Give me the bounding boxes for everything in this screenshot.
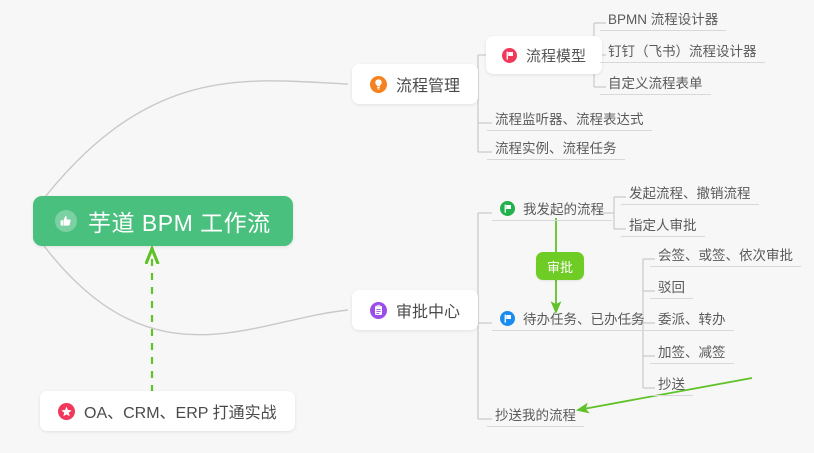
- node-countersign-orsign-sequential[interactable]: 会签、或签、依次审批: [650, 243, 801, 267]
- node-instance-task[interactable]: 流程实例、流程任务: [487, 136, 625, 160]
- node-todo-done-tasks-label: 待办任务、已办任务: [523, 313, 645, 327]
- node-todo-done-tasks[interactable]: 待办任务、已办任务: [492, 307, 653, 331]
- node-process-model[interactable]: 流程模型: [486, 36, 602, 74]
- node-assignee-approval-label: 指定人审批: [629, 219, 697, 233]
- node-delegate-transfer-label: 委派、转办: [658, 313, 726, 327]
- connector-root-to-process-management: [38, 81, 348, 206]
- node-custom-process-form[interactable]: 自定义流程表单: [600, 71, 711, 95]
- node-cc-to-me-process[interactable]: 抄送我的流程: [487, 403, 584, 427]
- node-my-initiated-process[interactable]: 我发起的流程: [492, 197, 612, 221]
- flag-icon: [500, 311, 515, 326]
- node-carbon-copy[interactable]: 抄送: [650, 372, 693, 396]
- node-bpmn-designer-label: BPMN 流程设计器: [608, 13, 718, 27]
- node-dingtalk-feishu-designer-label: 钉钉（飞书）流程设计器: [608, 45, 757, 59]
- node-countersign-orsign-sequential-label: 会签、或签、依次审批: [658, 249, 793, 263]
- tag-approval[interactable]: 审批: [536, 252, 584, 280]
- connector-root-to-approval-center: [38, 238, 348, 335]
- node-start-cancel-process[interactable]: 发起流程、撤销流程: [621, 181, 759, 205]
- branch-process-management-label: 流程管理: [396, 72, 460, 96]
- tag-approval-label: 审批: [547, 257, 573, 276]
- footer-integration-note[interactable]: OA、CRM、ERP 打通实战: [40, 391, 295, 431]
- root-label: 芋道 BPM 工作流: [88, 204, 271, 238]
- node-add-remove-sign[interactable]: 加签、减签: [650, 340, 734, 364]
- flag-icon: [500, 201, 515, 216]
- node-listener-expression-label: 流程监听器、流程表达式: [495, 113, 644, 127]
- node-custom-process-form-label: 自定义流程表单: [608, 77, 703, 91]
- node-my-initiated-process-label: 我发起的流程: [523, 203, 604, 217]
- branch-approval-center-label: 审批中心: [396, 298, 460, 322]
- mindmap-canvas: 芋道 BPM 工作流 流程管理 流程模型 BPMN 流程设计器 钉钉（飞书）流: [0, 0, 814, 453]
- node-add-remove-sign-label: 加签、减签: [658, 346, 726, 360]
- node-reject[interactable]: 驳回: [650, 275, 693, 299]
- node-dingtalk-feishu-designer[interactable]: 钉钉（飞书）流程设计器: [600, 39, 765, 63]
- lightbulb-icon: [370, 76, 387, 93]
- node-instance-task-label: 流程实例、流程任务: [495, 142, 617, 156]
- root-node[interactable]: 芋道 BPM 工作流: [33, 196, 293, 246]
- node-listener-expression[interactable]: 流程监听器、流程表达式: [487, 107, 652, 131]
- node-bpmn-designer[interactable]: BPMN 流程设计器: [600, 7, 726, 31]
- clipboard-icon: [370, 302, 387, 319]
- node-delegate-transfer[interactable]: 委派、转办: [650, 307, 734, 331]
- node-carbon-copy-label: 抄送: [658, 378, 685, 392]
- thumbs-up-icon: [55, 210, 77, 232]
- branch-approval-center[interactable]: 审批中心: [352, 290, 478, 330]
- branch-process-management[interactable]: 流程管理: [352, 64, 478, 104]
- star-icon: [58, 403, 75, 420]
- flag-icon: [502, 48, 517, 63]
- footer-integration-note-label: OA、CRM、ERP 打通实战: [84, 399, 277, 423]
- node-start-cancel-process-label: 发起流程、撤销流程: [629, 187, 751, 201]
- node-process-model-label: 流程模型: [526, 45, 586, 66]
- node-cc-to-me-process-label: 抄送我的流程: [495, 409, 576, 423]
- node-reject-label: 驳回: [658, 281, 685, 295]
- node-assignee-approval[interactable]: 指定人审批: [621, 213, 705, 237]
